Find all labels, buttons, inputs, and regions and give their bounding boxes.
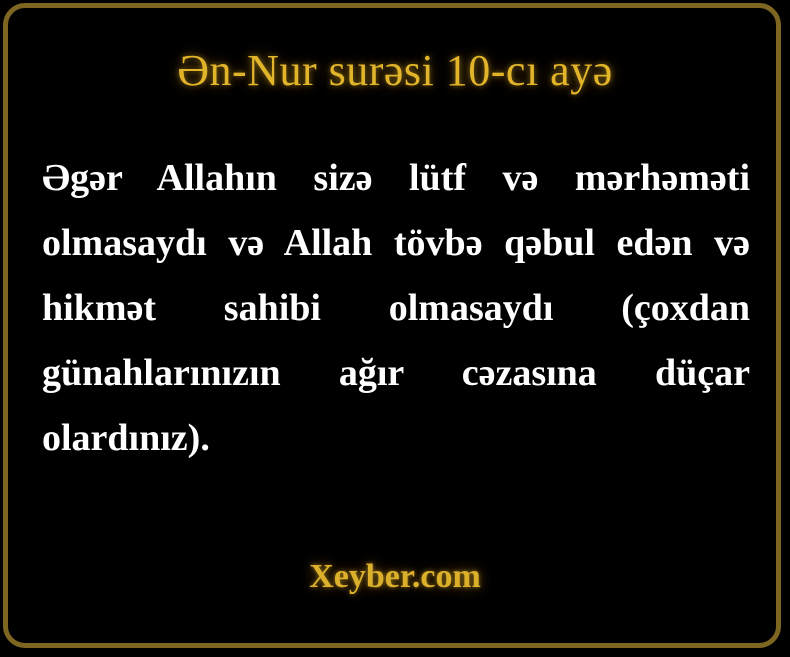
page-title: Ən-Nur surəsi 10-cı ayə bbox=[0, 45, 790, 96]
site-watermark: Xeyber.com bbox=[0, 558, 790, 596]
image-canvas: Ən-Nur surəsi 10-cı ayə Əgər Allahın siz… bbox=[0, 0, 790, 657]
verse-text: Əgər Allahın sizə lütf və mərhəməti olma… bbox=[42, 146, 750, 471]
card-content: Ən-Nur surəsi 10-cı ayə Əgər Allahın siz… bbox=[0, 0, 790, 657]
